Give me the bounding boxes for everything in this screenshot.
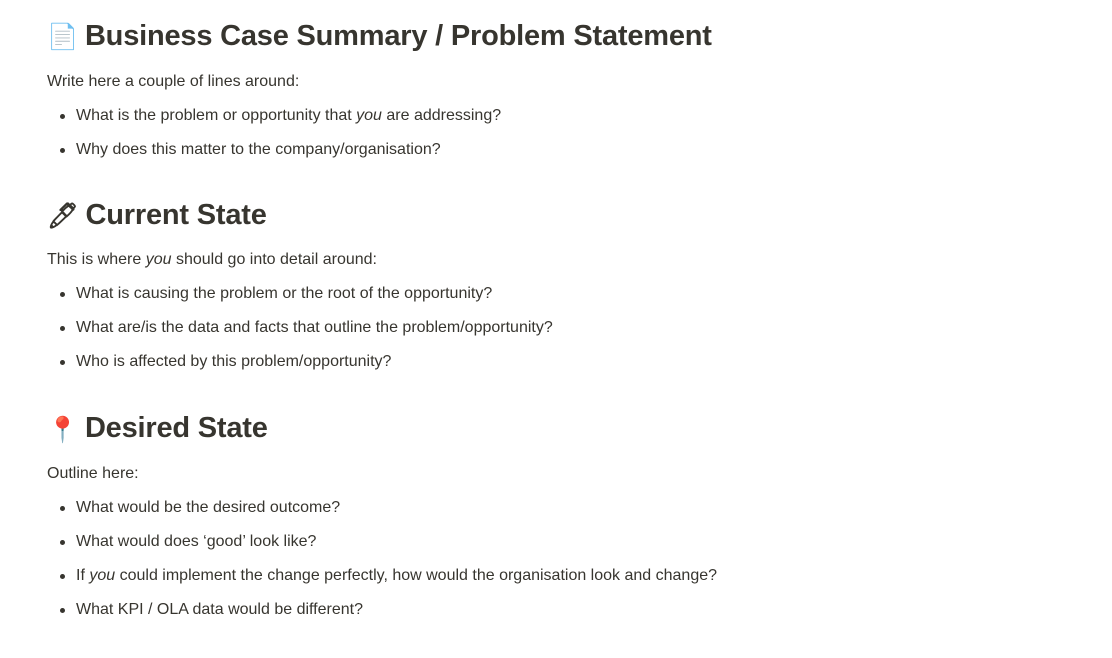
list-item: What would does ‘good’ look like? <box>47 530 1112 554</box>
intro-line-current-state: This is where you should go into detail … <box>47 248 1112 272</box>
round-pushpin-icon: 📍 <box>47 417 78 442</box>
list-item-text-pre: Why does this matter to the company/orga… <box>76 141 441 158</box>
list-item-text-emphasis: you <box>356 107 382 124</box>
heading-business-case-summary: 📄 Business Case Summary / Problem Statem… <box>47 18 1112 56</box>
list-item-text-pre: If <box>76 567 89 584</box>
bullet-list-current-state: What is causing the problem or the root … <box>47 282 1112 374</box>
document-content: 📄 Business Case Summary / Problem Statem… <box>0 18 1112 622</box>
list-item-text-pre: What KPI / OLA data would be different? <box>76 601 363 618</box>
intro-text-pre: This is where <box>47 251 146 268</box>
page-facing-up-icon: 📄 <box>47 24 78 49</box>
heading-text: Business Case Summary / Problem Statemen… <box>85 18 712 56</box>
bullet-list-business-case: What is the problem or opportunity that … <box>47 104 1112 162</box>
list-item-text-pre: What would be the desired outcome? <box>76 499 340 516</box>
list-item: What is the problem or opportunity that … <box>47 104 1112 128</box>
list-item-text-post: could implement the change perfectly, ho… <box>115 567 717 584</box>
intro-text-emphasis: you <box>146 251 172 268</box>
intro-text-post: should go into detail around: <box>172 251 377 268</box>
list-item: What would be the desired outcome? <box>47 496 1112 520</box>
list-item-text-post: are addressing? <box>382 107 501 124</box>
list-item: What are/is the data and facts that outl… <box>47 316 1112 340</box>
section-desired-state: 📍 Desired State Outline here: What would… <box>47 410 1112 622</box>
bullet-list-desired-state: What would be the desired outcome? What … <box>47 496 1112 622</box>
list-item: What is causing the problem or the root … <box>47 282 1112 306</box>
heading-desired-state: 📍 Desired State <box>47 410 1112 448</box>
pen-icon: 🖊 <box>47 203 79 228</box>
list-item: Who is affected by this problem/opportun… <box>47 350 1112 374</box>
heading-current-state: 🖊 Current State <box>47 197 1112 235</box>
heading-text: Desired State <box>85 410 268 448</box>
section-business-case-summary: 📄 Business Case Summary / Problem Statem… <box>47 18 1112 162</box>
document-page: 📄 Business Case Summary / Problem Statem… <box>0 18 1112 658</box>
intro-line-desired-state: Outline here: <box>47 462 1112 486</box>
section-current-state: 🖊 Current State This is where you should… <box>47 197 1112 375</box>
list-item-text-pre: What is causing the problem or the root … <box>76 285 492 302</box>
list-item-text-pre: What is the problem or opportunity that <box>76 107 356 124</box>
list-item: Why does this matter to the company/orga… <box>47 138 1112 162</box>
list-item-text-emphasis: you <box>89 567 115 584</box>
list-item-text-pre: What are/is the data and facts that outl… <box>76 319 553 336</box>
list-item: If you could implement the change perfec… <box>47 564 1112 588</box>
heading-text: Current State <box>86 197 267 235</box>
intro-line-business-case: Write here a couple of lines around: <box>47 70 1112 94</box>
list-item-text-pre: What would does ‘good’ look like? <box>76 533 316 550</box>
list-item-text-pre: Who is affected by this problem/opportun… <box>76 353 391 370</box>
list-item: What KPI / OLA data would be different? <box>47 598 1112 622</box>
